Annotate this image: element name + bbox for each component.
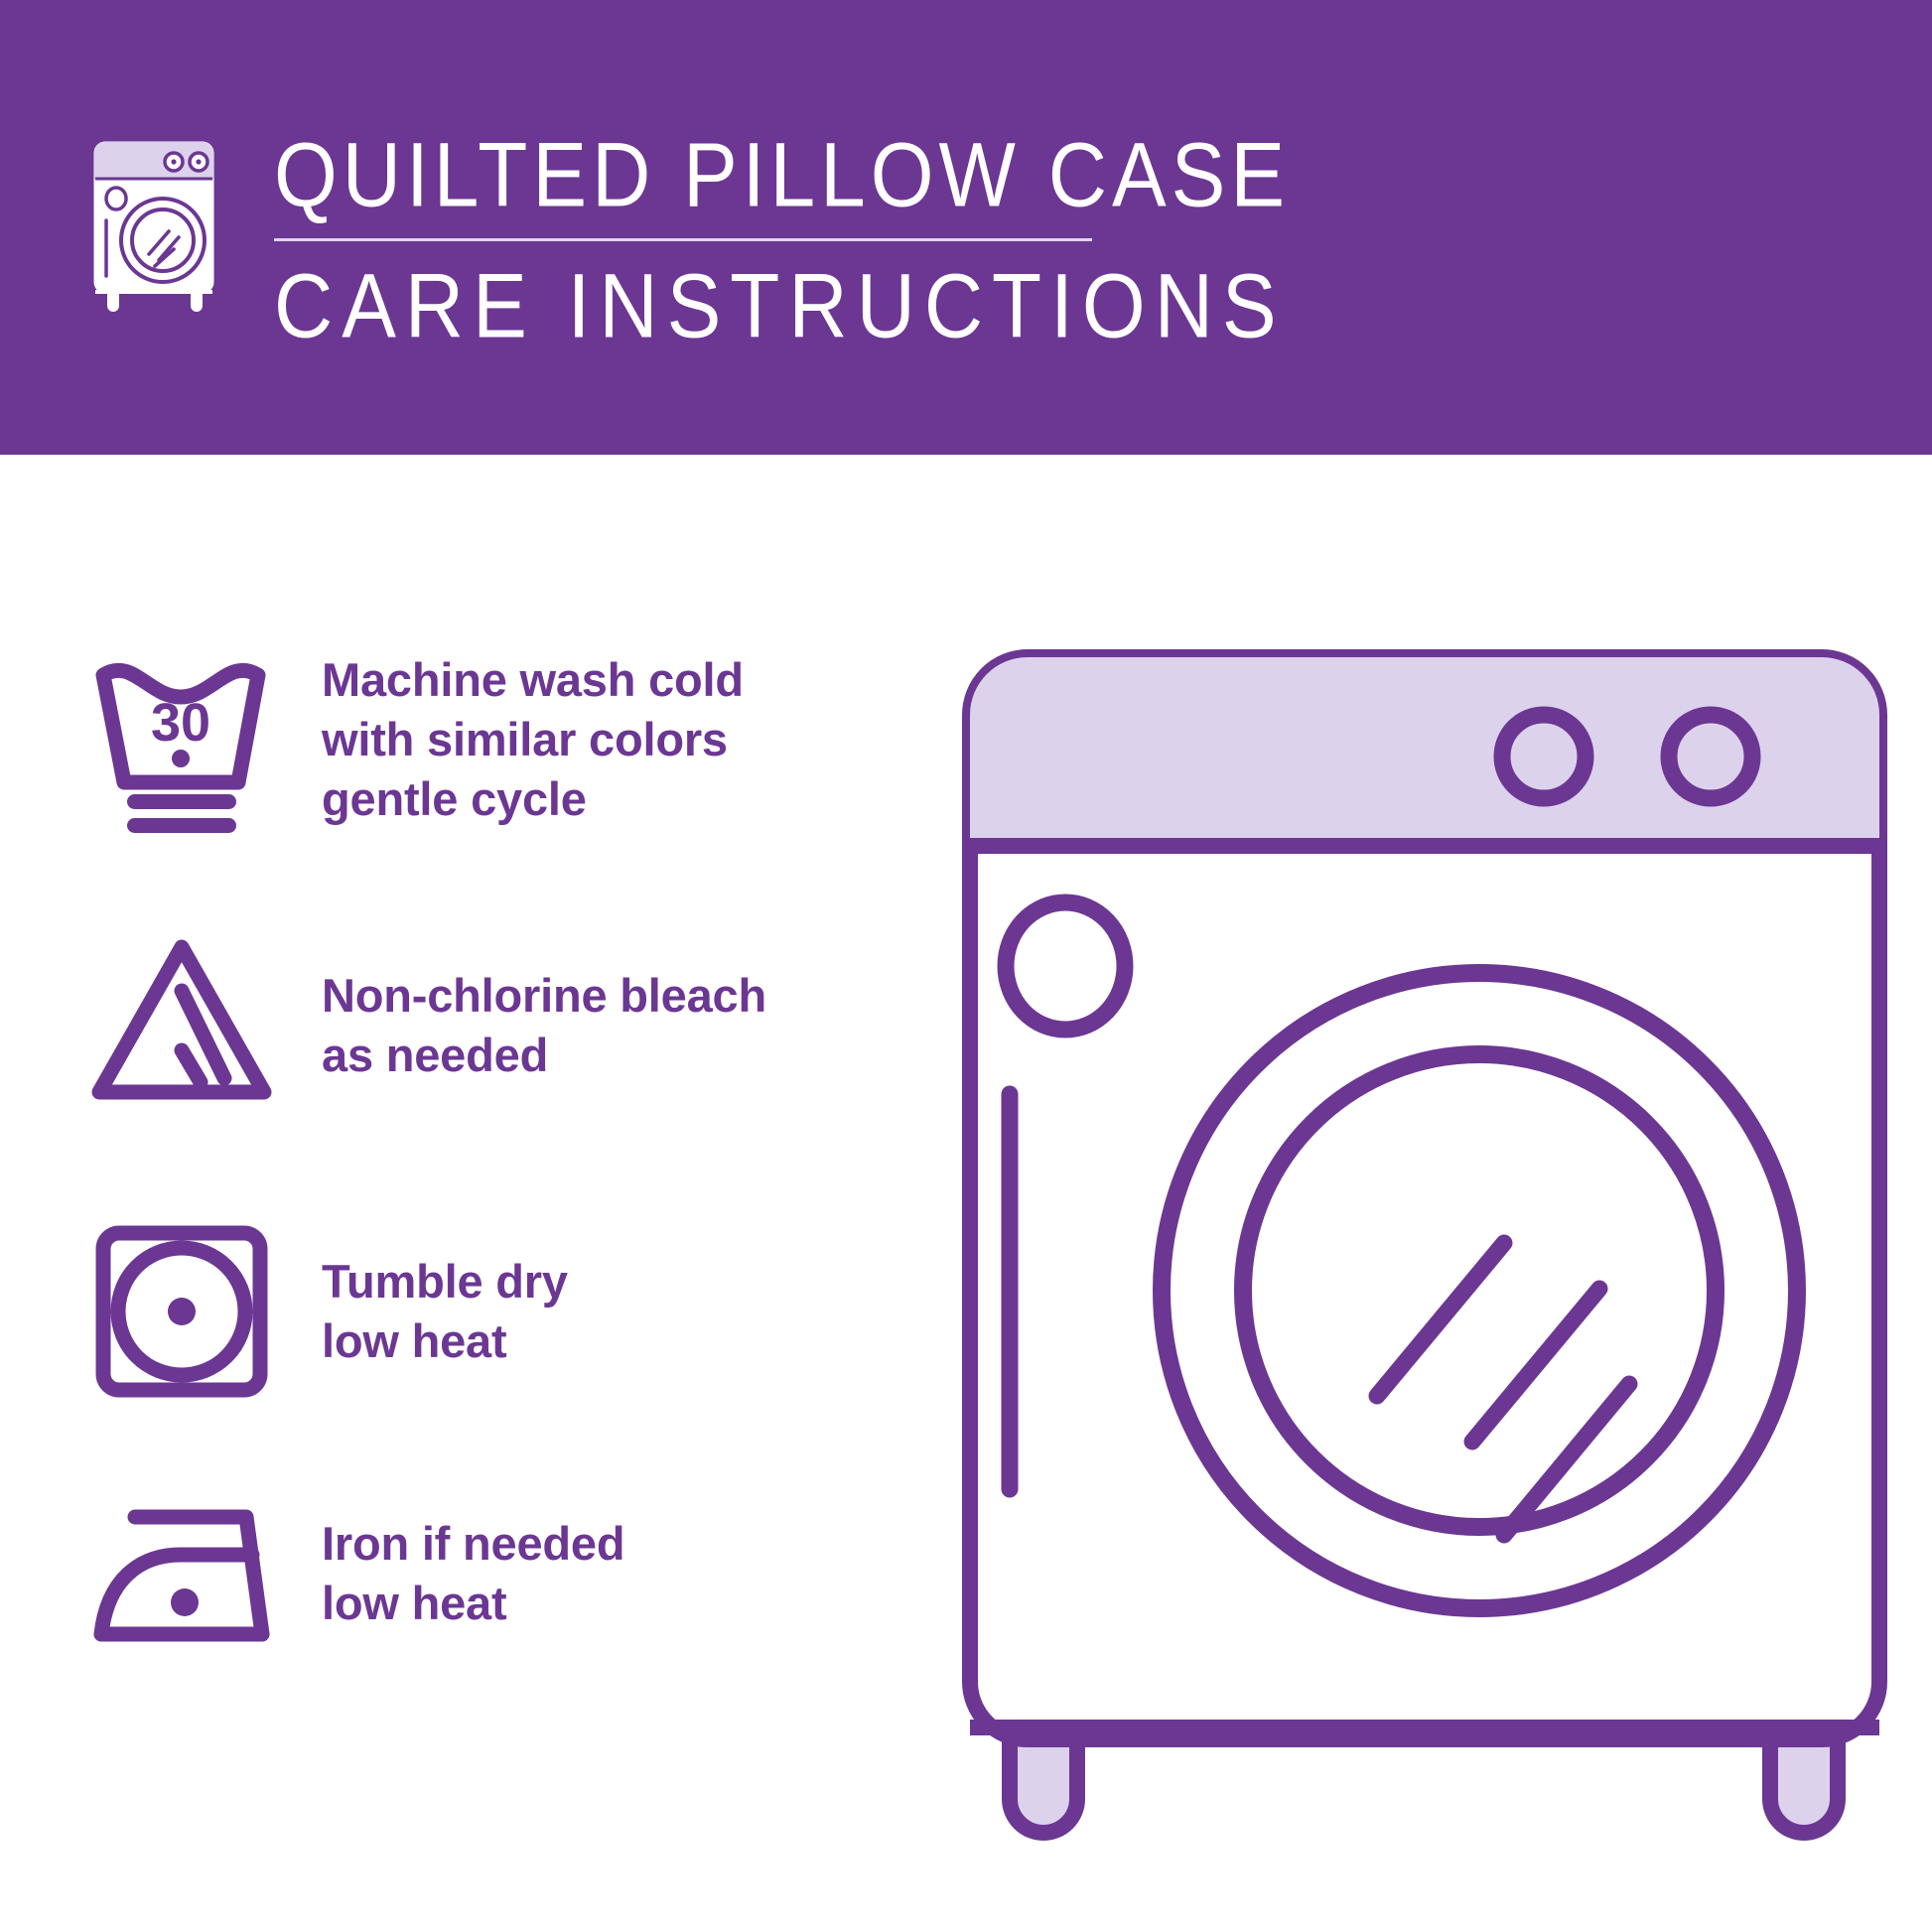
care-line: as needed bbox=[322, 1026, 766, 1085]
care-row-tumble-dry: Tumble dry low heat bbox=[0, 1207, 933, 1416]
machine-wash-30-gentle-icon: 30 bbox=[77, 635, 286, 844]
care-line: Machine wash cold bbox=[322, 650, 744, 710]
tumble-dry-low-heat-icon bbox=[77, 1207, 286, 1416]
title-divider bbox=[274, 238, 1092, 241]
knob-right bbox=[1669, 715, 1752, 798]
care-label-iron: Iron if needed low heat bbox=[322, 1514, 624, 1633]
non-chlorine-bleach-triangle-icon bbox=[77, 921, 286, 1130]
care-line: low heat bbox=[322, 1574, 624, 1633]
header-banner: QUILTED PILLOW CASE CARE INSTRUCTIONS bbox=[0, 0, 1932, 455]
header-title-group: QUILTED PILLOW CASE CARE INSTRUCTIONS bbox=[274, 127, 1290, 346]
washing-machine-icon bbox=[81, 137, 232, 316]
knob-left bbox=[1502, 715, 1586, 798]
header-content: QUILTED PILLOW CASE CARE INSTRUCTIONS bbox=[81, 127, 1290, 346]
care-label-bleach: Non-chlorine bleach as needed bbox=[322, 966, 766, 1085]
care-label-machine-wash: Machine wash cold with similar colors ge… bbox=[322, 650, 744, 829]
care-line: low heat bbox=[322, 1311, 568, 1371]
care-line: Non-chlorine bleach bbox=[322, 966, 766, 1026]
page-title-primary: QUILTED PILLOW CASE bbox=[274, 127, 1290, 225]
care-row-bleach: Non-chlorine bleach as needed bbox=[0, 921, 933, 1130]
care-label-tumble-dry: Tumble dry low heat bbox=[322, 1252, 568, 1371]
care-line: gentle cycle bbox=[322, 769, 744, 829]
care-row-iron: Iron if needed low heat bbox=[0, 1469, 933, 1678]
wash-temperature-value: 30 bbox=[151, 693, 210, 753]
care-line: Iron if needed bbox=[322, 1514, 624, 1574]
page-title-secondary: CARE INSTRUCTIONS bbox=[274, 257, 1286, 357]
care-line: with similar colors bbox=[322, 710, 744, 769]
iron-low-heat-icon bbox=[77, 1469, 286, 1678]
care-line: Tumble dry bbox=[322, 1252, 568, 1311]
washing-machine-illustration bbox=[948, 635, 1901, 1886]
detergent-dispenser bbox=[1006, 902, 1125, 1030]
care-row-machine-wash: 30 Machine wash cold with similar colors… bbox=[0, 635, 933, 844]
